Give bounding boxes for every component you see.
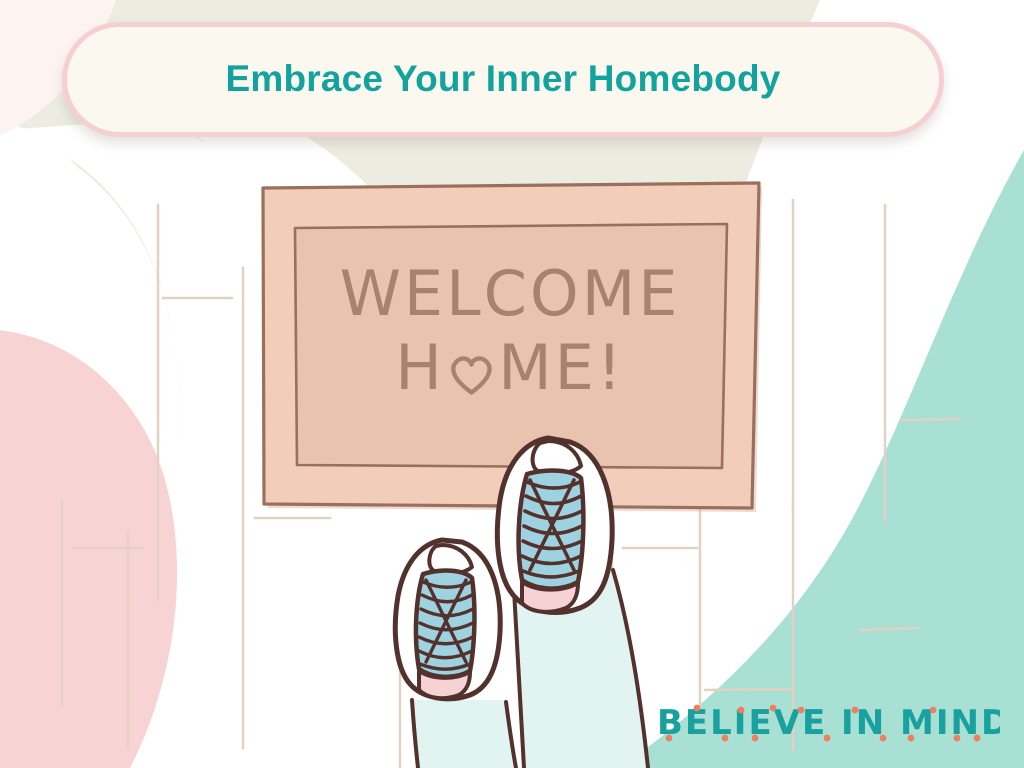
page-title: Embrace Your Inner Homebody <box>67 58 939 100</box>
brand-logo-svg: BELIEVE IN MIND <box>655 700 1000 746</box>
poster-canvas: WELCOME H ME! <box>0 0 1024 768</box>
shoe-left <box>395 540 500 699</box>
brand-logo: BELIEVE IN MIND <box>655 700 1000 742</box>
pant-left <box>412 700 516 768</box>
title-banner: Embrace Your Inner Homebody <box>62 22 944 137</box>
shoe-right <box>497 438 612 612</box>
